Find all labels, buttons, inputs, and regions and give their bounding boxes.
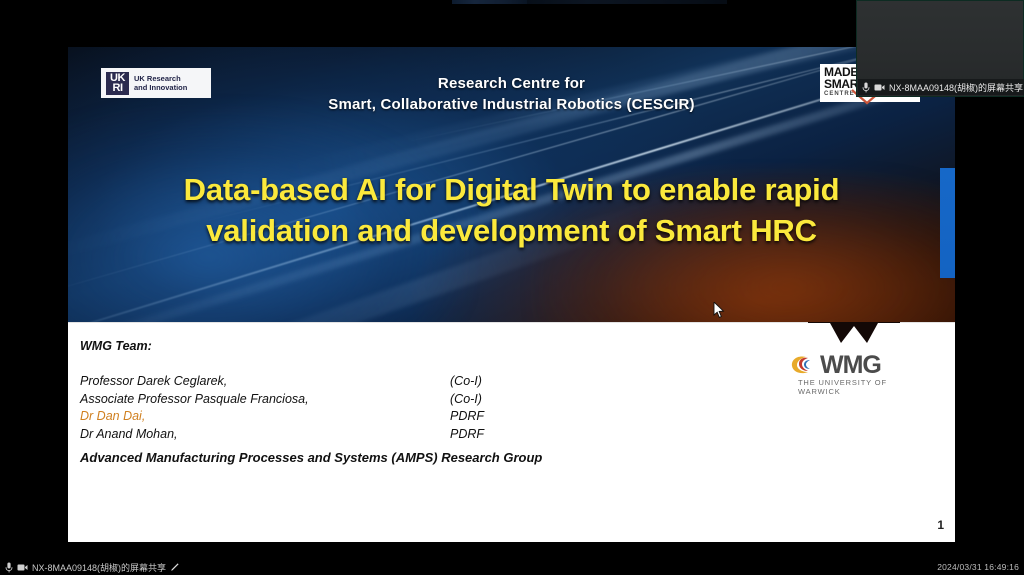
team-member-role: PDRF [450,426,570,444]
slide-page-number: 1 [937,518,944,532]
pencil-annotate-icon[interactable] [170,562,180,572]
team-member-name: Dr Dan Dai, [80,408,450,426]
team-member-row: Dr Anand Mohan, PDRF [80,426,600,444]
team-member-name: Dr Anand Mohan, [80,426,450,444]
bottom-status-bar[interactable]: NX-8MAA09148(胡椒)的屏幕共享 2024/03/31 16:49:1… [0,559,1024,575]
toolbar-sliver-segment-left [452,0,527,4]
team-member-role: PDRF [450,408,570,426]
team-member-name: Associate Professor Pasquale Franciosa, [80,391,450,409]
status-bar-timestamp: 2024/03/31 16:49:16 [937,562,1019,572]
slide-right-blue-edge [940,168,955,278]
status-bar-share-label: NX-8MAA09148(胡椒)的屏幕共享 [32,561,166,574]
team-member-row: Professor Darek Ceglarek, (Co-I) [80,373,600,391]
microphone-icon[interactable] [5,562,13,573]
team-member-row-highlighted: Dr Dan Dai, PDRF [80,408,600,426]
camera-icon[interactable] [874,83,885,92]
slide-title-line1: Data-based AI for Digital Twin to enable… [108,169,915,210]
team-member-role: (Co-I) [450,391,570,409]
wmg-team-list: Professor Darek Ceglarek, (Co-I) Associa… [80,373,600,443]
research-group-line: Advanced Manufacturing Processes and Sys… [80,450,542,465]
team-member-name: Professor Darek Ceglarek, [80,373,450,391]
wmg-swoosh-icon [790,354,820,376]
slide-main-title: Data-based AI for Digital Twin to enable… [108,169,915,251]
team-member-row: Associate Professor Pasquale Franciosa, … [80,391,600,409]
mouse-cursor [713,302,725,319]
slide-title-line2: validation and development of Smart HRC [108,210,915,251]
wmg-team-label: WMG Team: [80,339,152,353]
video-panel-label-bar[interactable]: NX-8MAA09148(胡椒)的屏幕共享 [858,79,1024,95]
toolbar-sliver-segment-right [527,0,727,4]
status-bar-share-info[interactable]: NX-8MAA09148(胡椒)的屏幕共享 [5,561,180,574]
warwick-w-notch-shape [808,322,900,344]
camera-icon[interactable] [17,563,28,572]
screen-share-video-panel[interactable]: NX-8MAA09148(胡椒)的屏幕共享 [856,0,1024,97]
video-panel-label: NX-8MAA09148(胡椒)的屏幕共享 [889,81,1023,94]
slide-hero-background: UK RI UK Research and Innovation Researc… [68,47,955,322]
team-member-role: (Co-I) [450,373,570,391]
wmg-logo: WMG THE UNIVERSITY OF WARWICK [790,351,922,393]
microphone-icon[interactable] [862,82,870,93]
shared-screen-slide[interactable]: UK RI UK Research and Innovation Researc… [68,47,955,542]
wmg-wordmark: WMG [820,353,881,378]
wmg-logo-subtitle: THE UNIVERSITY OF WARWICK [798,378,922,396]
slide-body-panel: WMG Team: Professor Darek Ceglarek, (Co-… [68,322,955,542]
